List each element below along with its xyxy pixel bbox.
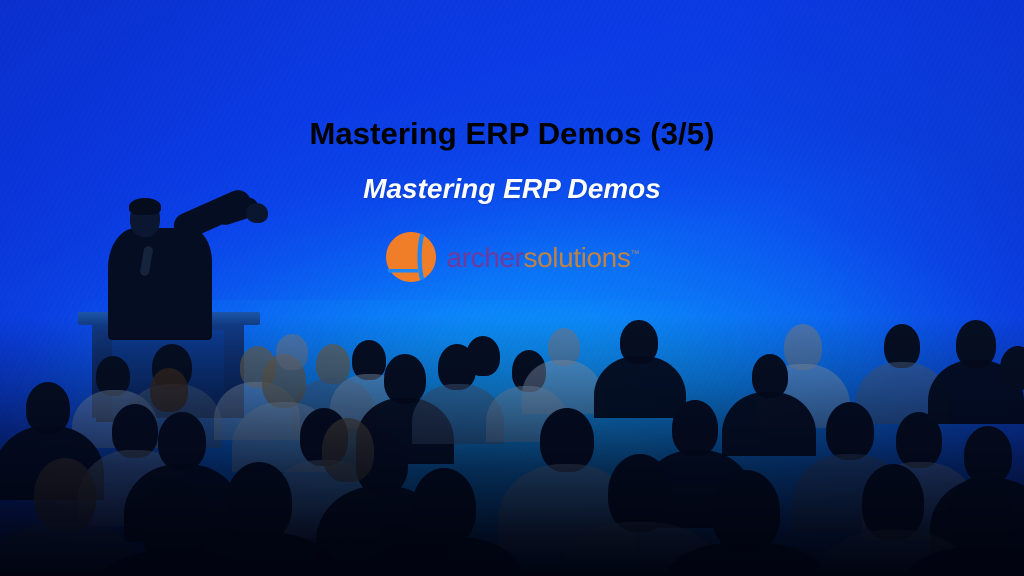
page-title: Mastering ERP Demos (3/5) (0, 116, 1024, 153)
brand-wordmark: archersolutions™ (447, 244, 640, 272)
brand-word-archer: archer (447, 242, 524, 273)
audience-darkening-overlay (0, 316, 1024, 576)
brand-logo: archersolutions™ (0, 228, 1024, 286)
page-subtitle: Mastering ERP Demos (0, 172, 1024, 206)
archer-circle-icon (385, 231, 437, 283)
audience-scene (0, 316, 1024, 576)
trademark-icon: ™ (630, 249, 639, 259)
presentation-slide: Mastering ERP Demos (3/5) Mastering ERP … (0, 0, 1024, 576)
speaker-hand (246, 203, 268, 223)
brand-word-solutions: solutions (524, 242, 631, 273)
